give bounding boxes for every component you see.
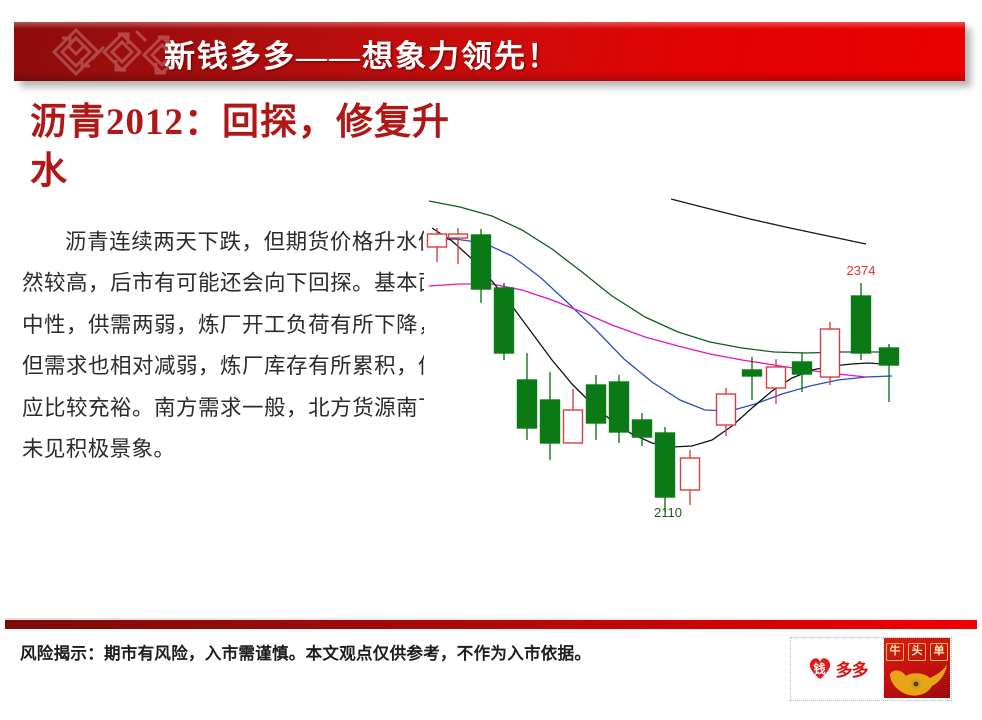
candle [587, 375, 606, 440]
candle-body [587, 385, 606, 423]
candle [743, 357, 762, 400]
candle [541, 372, 560, 460]
candle-body [449, 234, 468, 238]
candle-body [793, 362, 812, 374]
bull-label-group: 牛 头 单 [884, 643, 950, 661]
candle [610, 375, 629, 443]
low-label: 2110 [654, 505, 682, 520]
disclaimer-text: 风险揭示：期市有风险，入市需谨慎。本文观点仅供参考，不作为入市依据。 [20, 640, 760, 664]
candle [880, 344, 899, 402]
candle-body [743, 370, 762, 376]
candle [821, 322, 840, 385]
chart-svg: 23742110 [424, 186, 972, 538]
candle [717, 388, 736, 436]
banner-title: 新钱多多——想象力领先！ [164, 25, 560, 81]
candle [472, 229, 491, 303]
candle-body [495, 288, 514, 353]
header-banner: 新钱多多——想象力领先！ [14, 22, 965, 81]
candle-body [656, 433, 675, 497]
slide-canvas: 新钱多多——想象力领先！ 沥青2012：回探，修复升水 沥青连续两天下跌，但期货… [0, 0, 982, 720]
candle-body [633, 420, 652, 437]
brand-logo-qianduoduo: 钱 多多 [791, 638, 884, 698]
candle-body [681, 458, 700, 490]
candle-body [717, 394, 736, 425]
candle [518, 353, 537, 440]
footer-logo: 钱 多多 牛 头 单 [790, 637, 952, 701]
candle-body [472, 235, 491, 289]
high-label: 2374 [847, 263, 876, 278]
candlestick-chart: 23742110 [424, 186, 972, 538]
footer-divider [5, 620, 977, 629]
candle-body [880, 348, 899, 365]
candle [564, 389, 583, 443]
candle [449, 228, 468, 264]
candle [681, 450, 700, 505]
candle [428, 228, 447, 262]
candle [495, 283, 514, 360]
candle-body [821, 329, 840, 377]
candle-body [428, 234, 447, 247]
bull-char-3: 单 [930, 643, 948, 661]
golden-bull-icon [884, 660, 950, 698]
bull-char-2: 头 [908, 643, 926, 661]
candle-body [610, 382, 629, 432]
candle-body [767, 367, 786, 388]
body-paragraph: 沥青连续两天下跌，但期货价格升水仍然较高，后市有可能还会向下回探。基本面中性，供… [22, 222, 440, 471]
candlestick-series [428, 228, 899, 512]
candle-body [564, 410, 583, 443]
brand-logo-niutoudan: 牛 头 单 [884, 638, 950, 698]
candle [656, 427, 675, 512]
candle-body [541, 400, 560, 443]
candle-body [518, 380, 537, 428]
heart-icon: 钱 [807, 656, 833, 680]
bull-char-1: 牛 [886, 643, 904, 661]
candle-body [852, 296, 871, 353]
candle [852, 283, 871, 360]
brand-name-label: 多多 [836, 656, 868, 681]
ma-upper-right [671, 199, 866, 244]
heart-char-label: 钱 [807, 656, 833, 680]
page-title: 沥青2012：回探，修复升水 [30, 99, 450, 197]
